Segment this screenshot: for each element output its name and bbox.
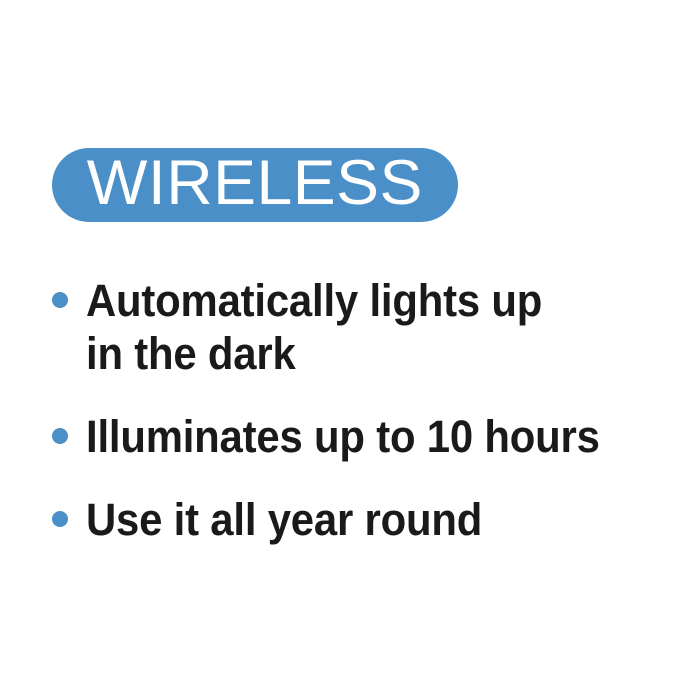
bullet-dot-icon [52,292,68,308]
wireless-badge: WIRELESS [52,148,458,222]
feature-text: Use it all year round [86,493,624,546]
feature-text: Automatically lights up in the dark [86,274,624,380]
bullet-dot-icon [52,428,68,444]
feature-list: Automatically lights up in the dark Illu… [52,274,664,546]
list-item: Illuminates up to 10 hours [52,410,664,463]
list-item: Use it all year round [52,493,664,546]
list-item: Automatically lights up in the dark [52,274,664,380]
wireless-badge-label: WIRELESS [87,152,423,215]
feature-text: Illuminates up to 10 hours [86,410,624,463]
product-feature-panel: WIRELESS Automatically lights up in the … [0,0,680,680]
bullet-dot-icon [52,511,68,527]
